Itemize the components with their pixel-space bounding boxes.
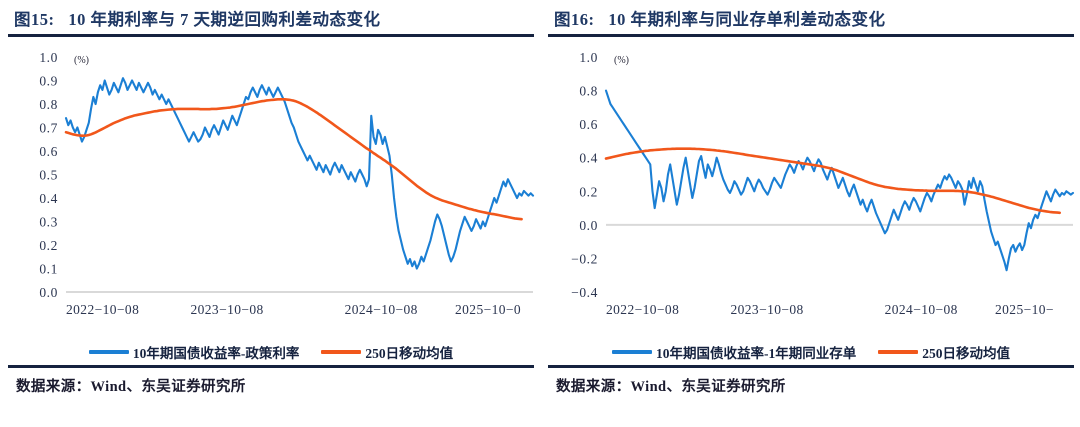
figures-page: 图15: 10 年期利率与 7 天期逆回购利差动态变化 1.00.90.80.7… [0,0,1080,427]
legend-item-orange: 250日移动均值 [878,342,1010,362]
svg-text:0.2: 0.2 [39,238,58,253]
legend-item-blue: 10年期国债收益率-1年期同业存单 [612,342,856,362]
figure-15-title: 图15: 10 年期利率与 7 天期逆回购利差动态变化 [8,0,534,34]
figure-15-number: 图15: [14,10,55,29]
svg-text:0.0: 0.0 [579,218,598,233]
svg-text:−0.2: −0.2 [571,251,598,266]
legend-item-orange: 250日移动均值 [321,342,453,362]
figure-panel-15: 图15: 10 年期利率与 7 天期逆回购利差动态变化 1.00.90.80.7… [0,0,540,427]
svg-text:2023−10−08: 2023−10−08 [190,302,263,317]
legend-label-blue: 10年期国债收益率-政策利率 [133,342,300,362]
svg-text:0.0: 0.0 [39,285,58,300]
svg-text:1.0: 1.0 [39,50,58,65]
figure-16-number: 图16: [554,10,595,29]
svg-text:2024−10−08: 2024−10−08 [345,302,418,317]
legend-label-orange: 250日移动均值 [922,342,1010,362]
svg-text:0.5: 0.5 [39,168,58,183]
legend-item-blue: 10年期国债收益率-政策利率 [89,342,300,362]
figure-16-chart: 1.00.80.60.40.20.0−0.2−0.4(%)2022−10−082… [548,37,1074,337]
svg-text:0.6: 0.6 [39,144,58,159]
svg-text:0.1: 0.1 [39,262,58,277]
svg-text:2025−10−0: 2025−10−0 [455,302,521,317]
figure-15-title-text: 10 年期利率与 7 天期逆回购利差动态变化 [68,10,380,29]
svg-text:0.9: 0.9 [39,74,58,89]
legend-label-blue: 10年期国债收益率-1年期同业存单 [656,342,856,362]
legend-swatch-orange-icon [321,350,361,354]
svg-text:0.4: 0.4 [39,191,58,206]
figure-15-chart: 1.00.90.80.70.60.50.40.30.20.10.0(%)2022… [8,37,534,337]
figure-15-plot: 1.00.90.80.70.60.50.40.30.20.10.0(%)2022… [8,37,540,337]
svg-text:0.8: 0.8 [39,97,58,112]
svg-text:2022−10−08: 2022−10−08 [66,302,139,317]
figure-16-plot: 1.00.80.60.40.20.0−0.2−0.4(%)2022−10−082… [548,37,1080,337]
svg-text:2023−10−08: 2023−10−08 [730,302,803,317]
figure-15-source: 数据来源：Wind、东吴证券研究所 [8,368,534,396]
legend-swatch-blue-icon [612,350,652,354]
figure-16-title-text: 10 年期利率与同业存单利差动态变化 [608,10,885,29]
figure-16-source: 数据来源：Wind、东吴证券研究所 [548,368,1074,396]
svg-text:2025−10−: 2025−10− [995,302,1054,317]
svg-text:−0.4: −0.4 [571,285,598,300]
svg-text:0.8: 0.8 [579,84,598,99]
svg-text:0.2: 0.2 [579,184,598,199]
svg-text:2022−10−08: 2022−10−08 [606,302,679,317]
figure-16-title: 图16: 10 年期利率与同业存单利差动态变化 [548,0,1074,34]
svg-text:0.7: 0.7 [39,121,58,136]
svg-text:1.0: 1.0 [579,50,598,65]
legend-swatch-blue-icon [89,350,129,354]
legend-label-orange: 250日移动均值 [365,342,453,362]
svg-text:(%): (%) [74,55,89,66]
svg-text:2024−10−08: 2024−10−08 [885,302,958,317]
figure-15-legend: 10年期国债收益率-政策利率 250日移动均值 [8,339,534,365]
svg-text:(%): (%) [614,55,629,66]
svg-text:0.4: 0.4 [579,151,598,166]
figure-16-legend: 10年期国债收益率-1年期同业存单 250日移动均值 [548,339,1074,365]
legend-swatch-orange-icon [878,350,918,354]
svg-text:0.3: 0.3 [39,215,58,230]
figure-panel-16: 图16: 10 年期利率与同业存单利差动态变化 1.00.80.60.40.20… [540,0,1080,427]
svg-text:0.6: 0.6 [579,117,598,132]
